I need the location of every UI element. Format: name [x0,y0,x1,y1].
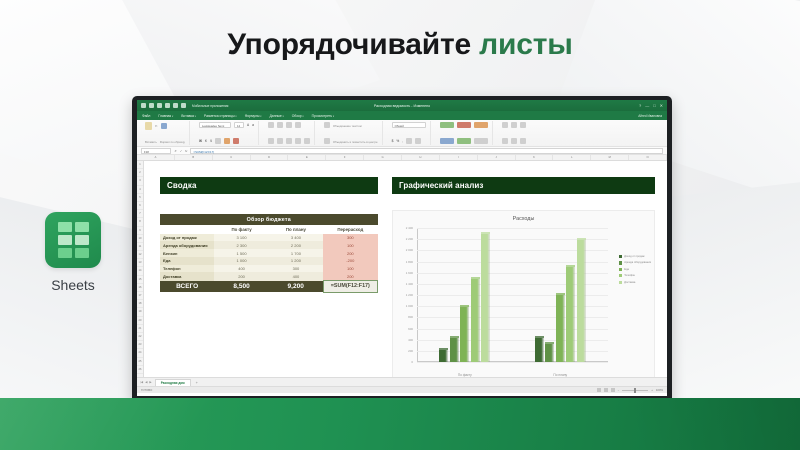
ribbon-tab-bar[interactable]: Файл Главная Вставка Разметка страницы Ф… [137,111,667,120]
zoom-in-icon[interactable]: + [651,388,653,392]
wrap-text-row[interactable]: Объединение текстом [324,122,378,128]
first-sheet-icon[interactable]: |◀ [140,380,143,384]
styles-row-top[interactable] [440,122,488,128]
row-label: Еда [160,257,214,265]
chart-legend-swatch [619,268,622,271]
sheet-tab-bar[interactable]: |◀ ◀ ▶ Расходная дом + [137,377,667,386]
column-header[interactable]: D [251,155,289,160]
chart-y-tick: 2 400 [406,226,413,230]
chart-bar-face [556,295,565,362]
chart-y-tick: 1 200 [406,293,413,297]
sheets-badge: Sheets [38,212,108,293]
undo-icon[interactable] [149,103,154,108]
formula-input[interactable]: =SUM(F12:F17) [190,148,663,154]
quick-access-toolbar[interactable]: Мобильные приложения [141,103,228,108]
chart-y-tick: 2 200 [406,237,413,241]
page-layout-icon[interactable] [604,388,608,392]
chart-legend: Доход от продажАренда оборудованияЕдаТел… [619,255,651,284]
autosum-icon[interactable] [502,138,508,144]
name-box[interactable]: F18 [141,148,171,154]
row-header[interactable]: 23 [137,341,143,349]
style-bad-icon[interactable] [457,122,471,128]
ribbon-group-clipboard: ✂ Вставить Формат по образцу [141,121,190,145]
merge-center-row[interactable]: Объединить и поместить в центре [324,138,378,144]
row-header[interactable]: 20 [137,317,143,325]
delete-cells-icon[interactable] [511,122,517,128]
align-right-icon[interactable] [286,138,292,144]
chart-bar-face [545,344,554,362]
row-planned: 1 700 [269,249,323,257]
zoom-out-icon[interactable]: − [618,388,620,392]
chart-gridline [417,362,608,363]
row-planned: 1 200 [269,257,323,265]
sort-filter-icon[interactable] [511,138,517,144]
close-icon[interactable]: ✕ [660,103,663,108]
status-right[interactable]: − + 100% [597,388,663,392]
save-icon[interactable] [141,103,146,108]
col-header-planned: По плану [269,225,323,233]
ribbon-group-number: Общий $ % , [388,121,431,145]
normal-view-icon[interactable] [597,388,601,392]
chart-y-tick: 400 [408,338,413,342]
budget-table-header-row: По факту По плану Перерасход [160,225,378,233]
chart-legend-label: Еда [624,268,629,271]
clipboard-captions: Вставить Формат по образцу [145,139,185,144]
chart-bar[interactable] [535,338,544,362]
row-header[interactable]: 10 [137,235,143,243]
chart-bar[interactable] [471,279,480,362]
report-content: Сводка Обзор бюджета По факту По плану П… [144,161,667,377]
chart-legend-swatch [619,255,622,258]
find-select-icon[interactable] [520,138,526,144]
chart-legend-label: Доставка [624,281,635,284]
table-row[interactable]: Аренда оборудования 2 300 2 200 100 [160,241,378,249]
budget-table-body: Доход от продаж 3 100 3 400 300 Аренда о… [160,234,378,293]
fill-color-icon[interactable] [224,138,230,144]
add-sheet-button[interactable]: + [196,380,198,385]
column-header[interactable]: F [326,155,364,160]
col-header-actual: По факту [214,225,268,233]
chart-bar-face [566,267,575,362]
style-note-icon[interactable] [474,138,488,144]
row-header[interactable]: 3 [137,177,143,185]
row-actual: 3 100 [214,234,268,242]
chart-legend-swatch [619,281,622,284]
italic-button[interactable]: К [205,139,207,143]
page-title-plain: Упорядочивайте [227,28,479,61]
font-color-icon[interactable] [233,138,239,144]
ribbon-tab-data[interactable]: Данные [270,114,284,118]
chart-bar[interactable] [545,344,554,362]
row-header[interactable]: 5 [137,194,143,202]
row-header[interactable]: 13 [137,259,143,267]
ribbon-tab-view[interactable]: Просмотреть [312,114,335,118]
chart-bar[interactable] [577,240,586,362]
sheets-label: Sheets [38,277,108,293]
status-bar: ГОТОВО − + 100% [137,386,667,393]
chart-legend-swatch [619,261,622,264]
number-format-select[interactable]: Общий [392,122,426,128]
page-title: Упорядочивайте листы [0,28,800,62]
row-header[interactable]: 9 [137,227,143,235]
bold-button[interactable]: Ж [199,139,202,143]
chart-y-tick: 1 600 [406,271,413,275]
row-header[interactable]: 22 [137,333,143,341]
format-painter-label: Формат по образцу [160,140,185,144]
total-overrun-formula: =SUM(F12:F17) [323,281,377,292]
increase-indent-icon[interactable] [304,138,310,144]
chart-bar-face [460,307,469,362]
laptop-bezel: Мобильные приложения Расходная ведомость… [132,96,672,402]
worksheet: A B C D E F G H I J K L M N 1 2 [137,155,667,377]
align-center-icon[interactable] [277,138,283,144]
chart-bar-face [471,279,480,362]
chart-bar[interactable] [450,338,459,362]
chart-bar-face [450,338,459,362]
prev-sheet-icon[interactable]: ◀ [145,380,147,384]
cells-row-top[interactable] [502,122,526,128]
column-header[interactable]: L [553,155,591,160]
align-middle-icon[interactable] [277,122,283,128]
row-header[interactable]: 17 [137,292,143,300]
chart-bar-groups [417,228,608,362]
chart-legend-label: Аренда оборудования [624,261,651,264]
ribbon-tab-file[interactable]: Файл [142,114,150,118]
font-name-select[interactable]: Leelawadee Semi [199,122,231,128]
chart-bar-group [513,228,609,362]
merge-center-icon[interactable] [324,138,330,144]
merge-center-label: Объединить и поместить в центре [333,140,378,144]
sheet-tab[interactable]: Расходная дом [155,379,191,386]
row-header[interactable]: 25 [137,358,143,366]
table-row[interactable]: Бензин 1 500 1 700 200 [160,249,378,257]
row-overrun: 100 [323,241,377,249]
next-sheet-icon[interactable]: ▶ [149,380,151,384]
number-format-row[interactable]: Общий [392,122,426,128]
chart-bar[interactable] [481,234,490,362]
total-label: ВСЕГО [160,281,214,292]
currency-icon[interactable]: $ [392,139,394,143]
clipboard-buttons[interactable]: ✂ [145,122,185,130]
column-header[interactable]: J [478,155,516,160]
chart-y-tick: 1 800 [406,260,413,264]
chart-y-tick: 200 [408,349,413,353]
chart-y-tick: 0 [411,360,413,364]
style-check-icon[interactable] [457,138,471,144]
status-text: ГОТОВО [141,388,152,392]
confirm-icon[interactable]: ✓ [180,149,183,153]
row-actual: 2 300 [214,241,268,249]
increase-decimal-icon[interactable] [406,138,412,144]
ribbon-group-wrap: Объединение текстом Объединить и помести… [320,121,383,145]
ribbon-tab-home[interactable]: Главная [158,114,173,118]
chart-plot-area [417,228,608,362]
table-total-row[interactable]: ВСЕГО 8,500 9,200 =SUM(F12:F17) [160,281,378,292]
row-label: Аренда оборудования [160,241,214,249]
chart-y-tick: 600 [408,327,413,331]
sheet-nav-arrows[interactable]: |◀ ◀ ▶ [140,380,152,384]
row-header[interactable]: 7 [137,210,143,218]
maximize-icon[interactable]: □ [653,103,655,108]
ribbon: ✂ Вставить Формат по образцу Leelawadee … [137,120,667,147]
laptop-mockup: Мобильные приложения Расходная ведомость… [132,96,672,419]
chart-y-tick: 1 400 [406,282,413,286]
row-planned: 400 [269,272,323,280]
window-controls[interactable]: ? — □ ✕ [639,103,663,108]
zoom-level: 100% [656,388,663,392]
row-header[interactable]: 16 [137,284,143,292]
align-top-icon[interactable] [268,122,274,128]
ribbon-tab-page-layout[interactable]: Разметка страницы [204,114,237,118]
row-header[interactable]: 18 [137,300,143,308]
chart-panel: Графический анализ Расходы 0200400600800… [392,177,655,377]
account-name[interactable]: Alfred Ивановна [638,114,662,118]
insert-function-icon[interactable]: fx [185,149,187,153]
col-header-overrun: Перерасход [323,225,377,233]
style-calculation-icon[interactable] [440,138,454,144]
total-planned: 9,200 [269,281,323,292]
row-header[interactable]: 8 [137,218,143,226]
formula-bar[interactable]: F18 ✕ ✓ fx =SUM(F12:F17) [137,147,667,155]
report-columns: Сводка Обзор бюджета По факту По плану П… [160,177,655,377]
chart-panel-title: Графический анализ [392,177,655,194]
chart-bar[interactable] [439,350,448,362]
column-header[interactable]: E [288,155,326,160]
help-icon[interactable]: ? [639,103,641,108]
col-header-item [160,225,214,233]
format-painter-icon[interactable] [161,123,167,129]
chart-legend-swatch [619,274,622,277]
page-title-accent: листы [479,28,573,61]
row-overrun: 200 [323,272,377,280]
font-size-select[interactable]: 14 [234,122,244,128]
decrease-font-icon[interactable]: a [252,123,254,127]
row-label: Доход от продаж [160,234,214,242]
row-header[interactable]: 19 [137,308,143,316]
page-break-icon[interactable] [611,388,615,392]
chart-legend-item: Доход от продаж [619,255,651,258]
ribbon-group-cells [498,121,530,145]
paste-icon[interactable] [145,122,152,130]
table-row[interactable]: Еда 1 000 1 200 -200 [160,257,378,265]
row-label: Телефон [160,265,214,273]
paste-label: Вставить [145,140,157,144]
row-header[interactable]: 15 [137,276,143,284]
excel-window: Мобильные приложения Расходная ведомость… [137,100,667,396]
chart-y-tick: 800 [408,315,413,319]
row-overrun: 300 [323,234,377,242]
row-label: Доставка [160,272,214,280]
sheets-icon-cells [58,222,89,258]
summary-panel-title: Сводка [160,177,378,194]
chart-bar-face [535,338,544,362]
table-row[interactable]: Доход от продаж 3 100 3 400 300 [160,234,378,242]
ribbon-group-styles [436,121,493,145]
chart-bar-face [577,240,586,362]
summary-panel: Сводка Обзор бюджета По факту По плану П… [160,177,378,377]
insert-cells-icon[interactable] [502,122,508,128]
decrease-indent-icon[interactable] [295,138,301,144]
expenses-chart[interactable]: Расходы 02004006008001 0001 2001 4001 60… [392,210,655,377]
row-header[interactable]: 6 [137,202,143,210]
row-header[interactable]: 24 [137,349,143,357]
new-icon[interactable] [165,103,170,108]
sheets-grid-icon [45,212,101,268]
borders-icon[interactable] [215,138,221,144]
row-header[interactable]: 12 [137,251,143,259]
chart-x-label: По плану [513,373,609,377]
style-neutral-icon[interactable] [474,122,488,128]
row-header[interactable]: 26 [137,366,143,374]
chart-legend-item: Еда [619,268,651,271]
row-actual: 200 [214,272,268,280]
styles-row-bottom[interactable] [440,138,488,144]
chart-legend-item: Доставка [619,281,651,284]
chart-y-tick: 1 000 [406,304,413,308]
column-header[interactable]: I [440,155,478,160]
ribbon-group-font: Leelawadee Semi 14 A a Ж К Ч [195,121,259,145]
ribbon-tab-insert[interactable]: Вставка [181,114,196,118]
column-header[interactable]: A [137,155,175,160]
comma-icon[interactable]: , [402,139,403,143]
minimize-icon[interactable]: — [645,103,649,108]
row-header[interactable]: 1 [137,161,143,169]
excel-title-bar: Мобильные приложения Расходная ведомость… [137,100,667,111]
chart-legend-label: Доход от продаж [624,255,644,258]
chart-legend-item: Аренда оборудования [619,261,651,264]
style-good-icon[interactable] [440,122,454,128]
chart-bar-group [417,228,513,362]
row-planned: 3 400 [269,234,323,242]
format-cells-icon[interactable] [520,122,526,128]
chart-bar[interactable] [556,295,565,362]
wrap-text-label: Объединение текстом [333,124,362,128]
chart-x-label: По факту [417,373,513,377]
cancel-icon[interactable]: ✕ [174,149,177,153]
decrease-decimal-icon[interactable] [415,138,421,144]
ribbon-tab-review[interactable]: Обзор [292,114,304,118]
row-planned: 300 [269,265,323,273]
row-label: Бензин [160,249,214,257]
chart-x-labels: По фактуПо плану [417,373,608,377]
ribbon-tab-formulas[interactable]: Формулы [245,114,262,118]
orientation-icon[interactable] [295,122,301,128]
zoom-slider[interactable] [622,390,648,391]
budget-table: Обзор бюджета По факту По плану Перерасх… [160,214,378,293]
qat-label: Мобильные приложения [192,104,228,108]
chart-legend-label: Телефон [624,274,635,277]
row-planned: 2 200 [269,241,323,249]
column-header[interactable]: C [213,155,251,160]
cut-icon[interactable]: ✂ [155,124,158,128]
row-overrun: 100 [323,265,377,273]
row-header[interactable]: 14 [137,267,143,275]
wrap-text-icon[interactable] [324,122,330,128]
number-buttons-row[interactable]: $ % , [392,138,426,144]
row-header[interactable]: 11 [137,243,143,251]
chart-bar-face [439,350,448,362]
chart-bar-face [481,234,490,362]
chart-bar[interactable] [566,267,575,362]
align-bottom-icon[interactable] [286,122,292,128]
align-left-icon[interactable] [268,138,274,144]
row-header[interactable]: 21 [137,325,143,333]
chart-bar[interactable] [460,307,469,362]
column-header[interactable]: G [364,155,402,160]
font-row-bottom[interactable]: Ж К Ч [199,138,254,144]
underline-button[interactable]: Ч [210,139,212,143]
row-header[interactable]: 2 [137,169,143,177]
row-actual: 1 500 [214,249,268,257]
table-row[interactable]: Доставка 200 400 200 [160,272,378,280]
alignment-row-top[interactable] [268,122,310,128]
font-row-top[interactable]: Leelawadee Semi 14 A a [199,122,254,128]
chart-y-axis: 02004006008001 0001 2001 4001 6001 8002 … [393,228,415,362]
chart-y-tick: 2 000 [406,248,413,252]
share-icon[interactable] [181,103,186,108]
column-header[interactable]: M [591,155,629,160]
column-header[interactable]: B [175,155,213,160]
alignment-row-bottom[interactable] [268,138,310,144]
column-header[interactable]: H [402,155,440,160]
increase-font-icon[interactable]: A [247,123,249,127]
bottom-brand-bar [0,398,800,450]
chart-title: Расходы [393,211,654,222]
redo-icon[interactable] [157,103,162,108]
column-header[interactable]: N [629,155,667,160]
print-icon[interactable] [173,103,178,108]
total-actual: 8,500 [214,281,268,292]
ribbon-group-alignment [264,121,315,145]
table-row[interactable]: Телефон 400 300 100 [160,265,378,273]
budget-table-caption: Обзор бюджета [160,214,378,225]
row-header[interactable]: 4 [137,186,143,194]
column-header[interactable]: K [516,155,554,160]
row-headers[interactable]: 1 2 3 4 5 6 7 8 9 10 11 12 13 14 15 16 1 [137,161,144,377]
cells-row-bottom[interactable] [502,138,526,144]
row-overrun: -200 [323,257,377,265]
row-actual: 1 000 [214,257,268,265]
row-overrun: 200 [323,249,377,257]
percent-icon[interactable]: % [396,139,399,143]
row-actual: 400 [214,265,268,273]
chart-legend-item: Телефон [619,274,651,277]
